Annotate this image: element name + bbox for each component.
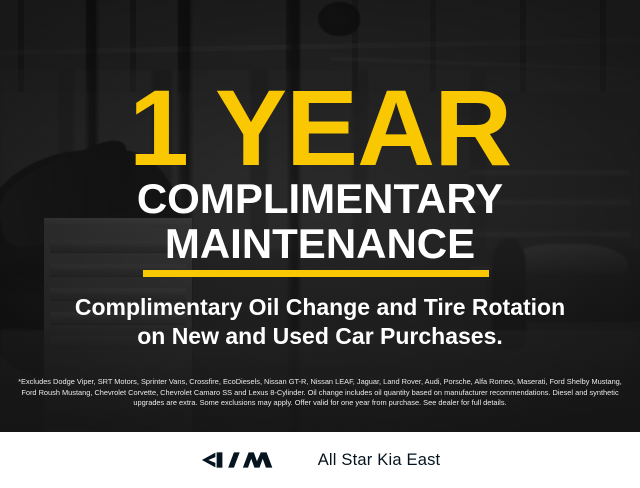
- promo-text-line-1: Complimentary Oil Change and Tire Rotati…: [0, 294, 640, 320]
- banner-content: 1 YEAR COMPLIMENTARY MAINTENANCE Complim…: [0, 0, 640, 432]
- footer-bar: All Star Kia East: [0, 432, 640, 488]
- dealer-name: All Star Kia East: [318, 451, 441, 470]
- headline-maintenance: MAINTENANCE: [0, 222, 640, 266]
- headline-complimentary: COMPLIMENTARY: [0, 177, 640, 221]
- promotional-banner: 1 YEAR COMPLIMENTARY MAINTENANCE Complim…: [0, 0, 640, 488]
- headline-year: 1 YEAR: [0, 78, 640, 178]
- yellow-divider-bar: [143, 270, 489, 277]
- disclaimer-fine-print: *Excludes Dodge Viper, SRT Motors, Sprin…: [12, 377, 628, 409]
- kia-logo: [200, 447, 296, 473]
- promo-text-line-2: on New and Used Car Purchases.: [0, 323, 640, 349]
